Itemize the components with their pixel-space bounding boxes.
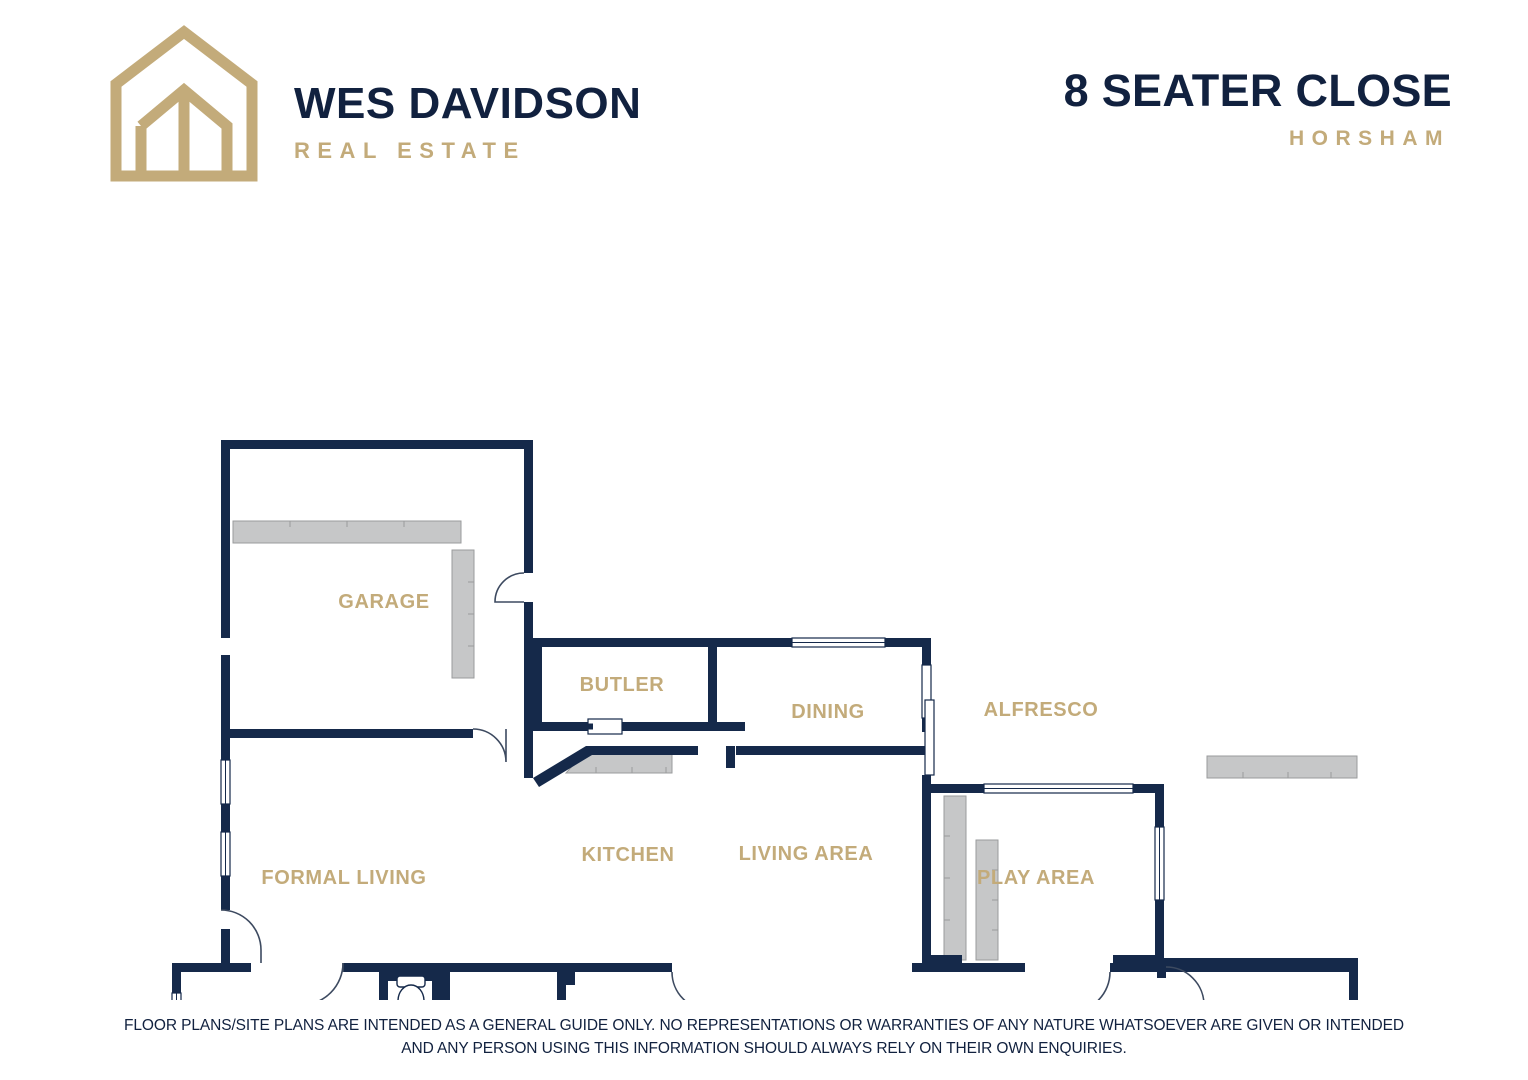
property-title: 8 SEATER CLOSE (1064, 68, 1452, 113)
brand-name: WES DAVIDSON (294, 82, 641, 126)
garage-bench-fixture (233, 521, 461, 543)
room-label-butler: BUTLER (580, 674, 665, 696)
page-header: WES DAVIDSON REAL ESTATE 8 SEATER CLOSE … (0, 24, 1528, 194)
window-master-left-upper (172, 993, 181, 1000)
floorplan-canvas: GARAGE BUTLER DINING ALFRESCO KITCHEN LI… (0, 210, 1528, 1000)
door-bedroom-2 (672, 972, 710, 1000)
brand-tagline: REAL ESTATE (294, 138, 641, 164)
room-label-alfresco: ALFRESCO (984, 699, 1099, 721)
disclaimer-line-1: FLOOR PLANS/SITE PLANS ARE INTENDED AS A… (56, 1015, 1472, 1037)
window-formal-living-upper (221, 760, 230, 804)
floorplan-page: WES DAVIDSON REAL ESTATE 8 SEATER CLOSE … (0, 0, 1528, 1080)
formal-living-cupboard-fixture (452, 550, 474, 678)
sliding-door-play-area-right (1155, 827, 1164, 900)
window-play-area-top (984, 784, 1133, 793)
room-label-garage: GARAGE (338, 591, 429, 613)
property-address-block: 8 SEATER CLOSE HORSHAM (1064, 24, 1452, 151)
disclaimer-footer: FLOOR PLANS/SITE PLANS ARE INTENDED AS A… (0, 1015, 1528, 1060)
brand-text: WES DAVIDSON REAL ESTATE (294, 44, 641, 164)
disclaimer-line-2: AND ANY PERSON USING THIS INFORMATION SH… (56, 1038, 1472, 1060)
window-formal-living-lower (221, 832, 230, 876)
property-suburb: HORSHAM (1064, 127, 1452, 151)
sliding-door-dining-right-lower (925, 700, 934, 775)
window-dining-top (792, 638, 885, 647)
wc-pan-master-icon (397, 976, 425, 1000)
room-labels-layer: GARAGE BUTLER DINING ALFRESCO KITCHEN LI… (224, 591, 1311, 1000)
house-outline-logo-icon (108, 24, 260, 184)
brand-block: WES DAVIDSON REAL ESTATE (108, 24, 641, 184)
fixtures-layer (233, 521, 1357, 960)
sanitary-layer (397, 976, 862, 1000)
room-label-dining: DINING (791, 701, 865, 723)
door-garage (495, 573, 524, 602)
bedroom-4-robe-fixture (1207, 756, 1357, 778)
door-garage-lower (473, 729, 506, 762)
room-label-kitchen: KITCHEN (581, 844, 674, 866)
room-label-play-area: PLAY AREA (977, 867, 1095, 889)
room-label-formal-living: FORMAL LIVING (261, 867, 426, 889)
door-hall-right (1070, 972, 1110, 1000)
room-label-living-area: LIVING AREA (739, 843, 874, 865)
floorplan-drawing: GARAGE BUTLER DINING ALFRESCO KITCHEN LI… (0, 210, 1528, 1000)
bedroom-3-robe-fixture (976, 840, 998, 960)
sliding-door-butler (563, 719, 633, 734)
windows-layer (172, 638, 1288, 1000)
laundry-cupboard-fixture (944, 796, 966, 960)
